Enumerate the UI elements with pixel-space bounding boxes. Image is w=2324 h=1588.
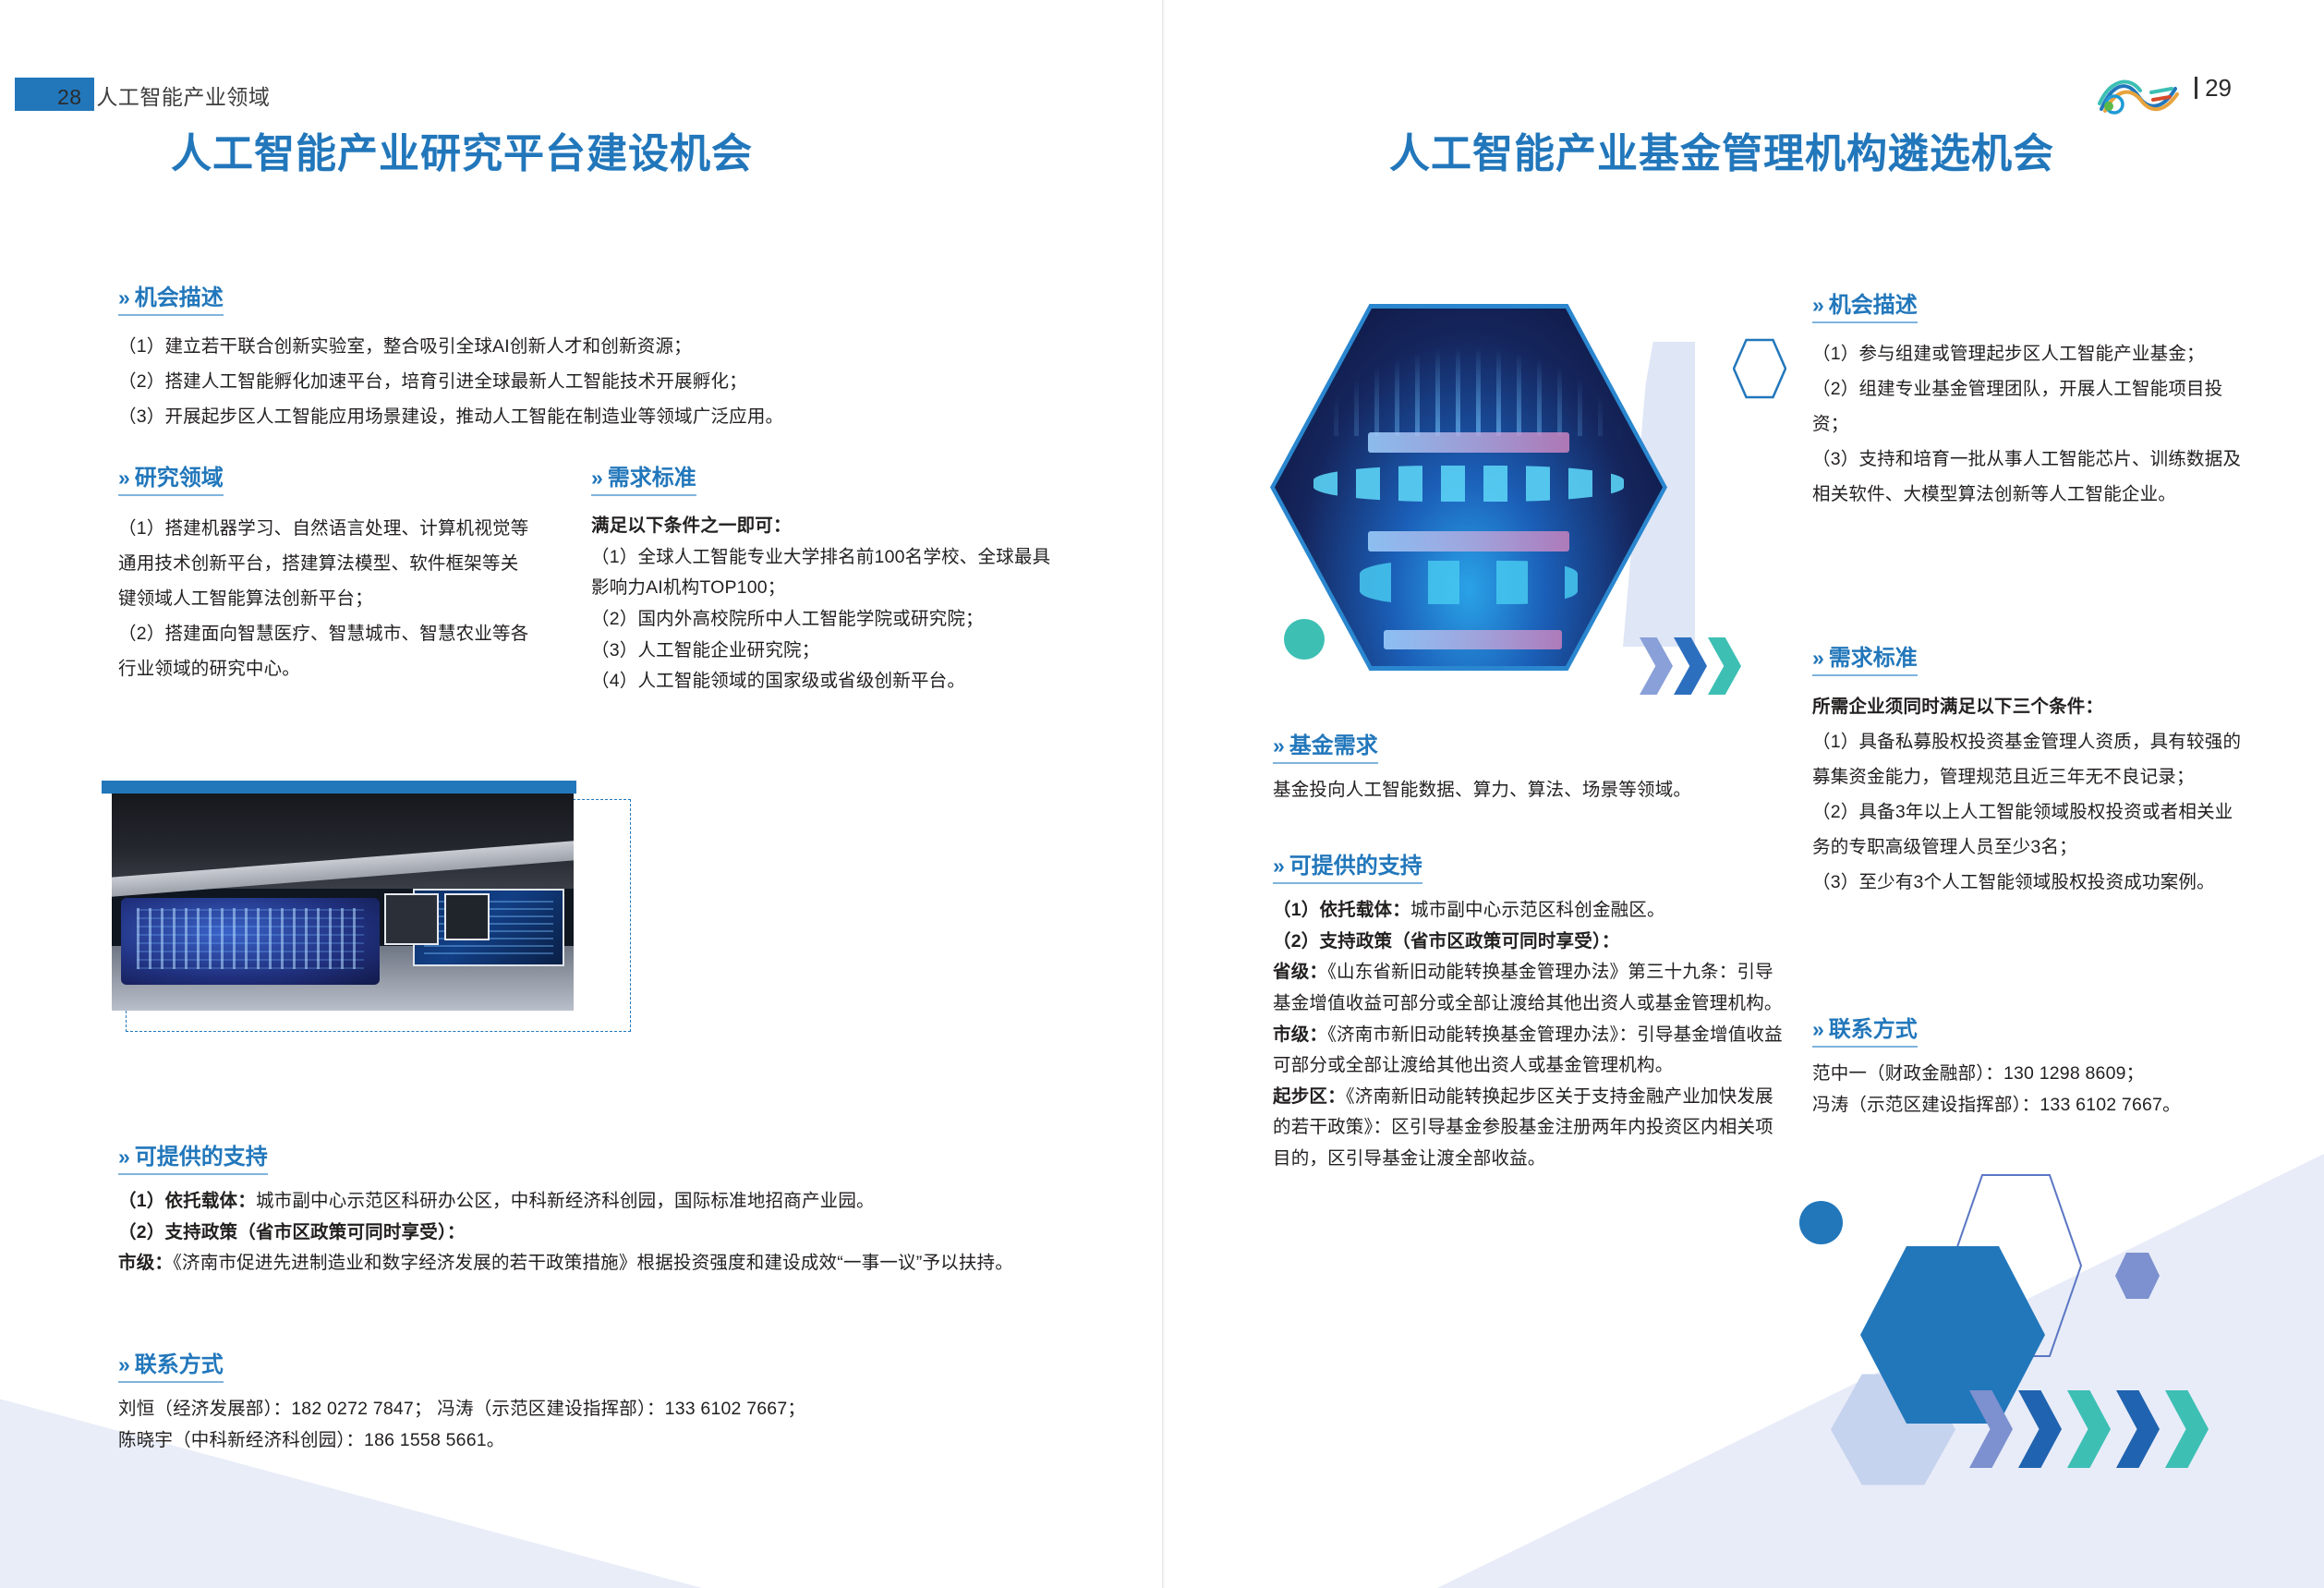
logo-icon — [2096, 74, 2181, 116]
page-left-title: 人工智能产业研究平台建设机会 — [171, 120, 753, 179]
brand-logo — [2096, 74, 2181, 116]
section-heading-contact: »联系方式 — [1812, 1018, 1918, 1048]
section-heading-label: 基金需求 — [1289, 733, 1378, 758]
folio-left-number: 28 — [57, 85, 82, 109]
fund-need-text: 基金投向人工智能数据、算力、算法、场景等领域。 — [1273, 775, 1790, 806]
section-opportunity-left: »机会描述 （1）建立若干联合创新实验室，整合吸引全球AI创新人才和创新资源； … — [118, 286, 1116, 434]
support-item-1-label: （1）依托载体： — [118, 1191, 256, 1211]
page-left: 人工智能产业研究平台建设机会 »机会描述 （1）建立若干联合创新实验室，整合吸引… — [0, 0, 1162, 1588]
hex-data-bars — [1313, 348, 1624, 436]
section-heading-requirement: »需求标准 — [1812, 647, 1918, 676]
hexagon-outline-icon — [1733, 338, 1786, 399]
arrow-chevron — [2067, 1390, 2111, 1468]
folio-right: 29 — [2195, 74, 2232, 103]
photo-image — [112, 794, 574, 1011]
section-heading-opportunity: »机会描述 — [118, 286, 224, 316]
list-item: （1）建立若干联合创新实验室，整合吸引全球AI创新人才和创新资源； — [118, 329, 1116, 364]
chevron-accent-group — [1640, 637, 1741, 695]
section-heading-label: 机会描述 — [135, 285, 224, 310]
support-item-1-label: （1）依托载体： — [1273, 900, 1410, 920]
section-heading-research-field: »研究领域 — [118, 467, 224, 496]
chevron-double-right-icon: » — [1812, 1017, 1822, 1041]
chevron-double-right-icon: » — [591, 466, 600, 490]
list-item: （1）全球人工智能专业大学排名前100名学校、全球最具影响力AI机构TOP100… — [591, 542, 1053, 604]
list-item: （1）具备私募股权投资基金管理人资质，具有较强的募集资金能力，管理规范且近三年无… — [1812, 724, 2246, 794]
support-city-policy: 市级：《济南市促进先进制造业和数字经济发展的若干政策措施》根据投资强度和建设成效… — [118, 1248, 1125, 1279]
support-startup-zone-label: 起步区： — [1273, 1086, 1346, 1107]
blue-circle-decoration — [1799, 1201, 1843, 1244]
section-heading-label: 研究领域 — [135, 466, 224, 491]
section-opportunity-right: »机会描述 （1）参与组建或管理起步区人工智能产业基金； （2）组建专业基金管理… — [1812, 294, 2246, 512]
section-heading-support: »可提供的支持 — [1273, 855, 1422, 884]
section-contact-right: »联系方式 范中一（财政金融部）：130 1298 8609； 冯涛（示范区建设… — [1812, 1018, 2246, 1121]
support-city-text: 《济南市新旧动能转换基金管理办法》：引导基金增值收益可部分或全部让渡给其他出资人… — [1273, 1024, 1783, 1076]
folio-left: 28›人工智能产业领域 — [57, 79, 270, 111]
section-heading-contact: »联系方式 — [118, 1353, 224, 1383]
list-item: （1）参与组建或管理起步区人工智能产业基金； — [1812, 336, 2246, 371]
list-item: （4）人工智能领域的国家级或省级创新平台。 — [591, 666, 1053, 697]
contact-line: 冯涛（示范区建设指挥部）：133 6102 7667。 — [1812, 1090, 2246, 1121]
section-support-left: »可提供的支持 （1）依托载体：城市副中心示范区科研办公区，中科新经济科创园，国… — [118, 1146, 1125, 1279]
chevron-double-right-icon: » — [1273, 854, 1282, 878]
photo-display-panel-a — [384, 893, 439, 945]
list-item: （3）支持和培育一批从事人工智能芯片、训练数据及相关软件、大模型算法创新等人工智… — [1812, 442, 2246, 512]
section-heading-label: 需求标准 — [608, 466, 696, 491]
list-item: （2）具备3年以上人工智能领域股权投资或者相关业务的专职高级管理人员至少3名； — [1812, 794, 2246, 865]
contact-line: 陈晓宇（中科新经济科创园）：186 1558 5661。 — [118, 1425, 1125, 1457]
list-item: （1）搭建机器学习、自然语言处理、计算机视觉等通用技术创新平台，搭建算法模型、软… — [118, 511, 534, 616]
arrow-chevron — [1969, 1390, 2013, 1468]
support-province-text: 《山东省新旧动能转换基金管理办法》第三十九条：引导基金增值收益可部分或全部让渡给… — [1273, 962, 1783, 1013]
support-item-1: （1）依托载体：城市副中心示范区科创金融区。 — [1273, 895, 1790, 927]
section-requirement-right: »需求标准 所需企业须同时满足以下三个条件： （1）具备私募股权投资基金管理人资… — [1812, 647, 2246, 900]
photo-display-panel-b — [444, 893, 490, 940]
hex-tag-top — [1368, 432, 1569, 453]
folio-separator-icon: › — [87, 90, 92, 105]
hex-tag-bottom — [1384, 630, 1562, 650]
support-city-label: 市级： — [118, 1253, 173, 1273]
chevron-double-right-icon: » — [118, 1145, 127, 1169]
hexagon-photo-body — [1275, 305, 1663, 670]
folio-left-label: 人工智能产业领域 — [96, 85, 270, 109]
list-item: （2）搭建面向智慧医疗、智慧城市、智慧农业等各行业领域的研究中心。 — [118, 616, 534, 686]
contact-line: 范中一（财政金融部）：130 1298 8609； — [1812, 1059, 2246, 1090]
section-heading-label: 联系方式 — [135, 1352, 224, 1377]
list-item: （3）人工智能企业研究院； — [591, 636, 1053, 667]
teal-circle-decoration — [1284, 619, 1325, 660]
folio-right-rule — [2195, 77, 2197, 99]
support-province-policy: 省级：《山东省新旧动能转换基金管理办法》第三十九条：引导基金增值收益可部分或全部… — [1273, 957, 1790, 1019]
section-heading-label: 需求标准 — [1829, 646, 1918, 671]
support-startup-zone-text: 《济南新旧动能转换起步区关于支持金融产业加快发展的若干政策》：区引导基金参股基金… — [1273, 1086, 1773, 1169]
list-item: （2）组建专业基金管理团队，开展人工智能项目投资； — [1812, 371, 2246, 442]
ai-system-hexagon-image — [1275, 305, 1663, 670]
requirement-intro: 所需企业须同时满足以下三个条件： — [1812, 689, 2246, 724]
chevron-double-right-icon: » — [118, 466, 127, 490]
chevron-accent — [1708, 637, 1741, 695]
folio-right-number: 29 — [2205, 74, 2232, 102]
support-item-1: （1）依托载体：城市副中心示范区科研办公区，中科新经济科创园，国际标准地招商产业… — [118, 1186, 1125, 1218]
support-item-2-label: （2）支持政策（省市区政策可同时享受）： — [1273, 927, 1790, 958]
support-province-label: 省级： — [1273, 962, 1327, 982]
section-heading-label: 可提供的支持 — [135, 1145, 268, 1170]
section-research-field: »研究领域 （1）搭建机器学习、自然语言处理、计算机视觉等通用技术创新平台，搭建… — [118, 467, 534, 686]
section-heading-requirement: »需求标准 — [591, 467, 696, 496]
section-heading-support: »可提供的支持 — [118, 1146, 268, 1175]
arrow-chevron — [2165, 1390, 2209, 1468]
hex-pod-row — [1360, 561, 1577, 604]
support-city-policy: 市级：《济南市新旧动能转换基金管理办法》：引导基金增值收益可部分或全部让渡给其他… — [1273, 1020, 1790, 1082]
chevron-accent — [1640, 637, 1673, 695]
hex-tag-middle — [1368, 531, 1569, 552]
support-startup-zone-policy: 起步区：《济南新旧动能转换起步区关于支持金融产业加快发展的若干政策》：区引导基金… — [1273, 1082, 1790, 1175]
support-city-label: 市级： — [1273, 1024, 1327, 1045]
list-item: （2）搭建人工智能孵化加速平台，培育引进全球最新人工智能技术开展孵化； — [118, 364, 1116, 399]
magazine-spread: 28›人工智能产业领域 29 人工智能产业研究平台建设机会 »机会描述 （1）建… — [0, 0, 2324, 1588]
chevron-double-right-icon: » — [118, 285, 127, 309]
section-requirement-left: »需求标准 满足以下条件之一即可： （1）全球人工智能专业大学排名前100名学校… — [591, 467, 1053, 697]
chevron-double-right-icon: » — [118, 1352, 127, 1376]
chevron-accent — [1674, 637, 1707, 695]
facility-photo — [102, 781, 605, 1021]
support-item-1-text: 城市副中心示范区科研办公区，中科新经济科创园，国际标准地招商产业园。 — [256, 1191, 875, 1211]
contact-line: 刘恒（经济发展部）：182 0272 7847； 冯涛（示范区建设指挥部）：13… — [118, 1394, 1125, 1425]
photo-top-accent-bar — [102, 781, 576, 794]
arrow-chevron — [2116, 1390, 2160, 1468]
list-item: （2）国内外高校院所中人工智能学院或研究院； — [591, 604, 1053, 636]
requirement-intro: 满足以下条件之一即可： — [591, 511, 1053, 542]
section-support-right: »可提供的支持 （1）依托载体：城市副中心示范区科创金融区。 （2）支持政策（省… — [1273, 855, 1790, 1174]
support-city-text: 《济南市促进先进制造业和数字经济发展的若干政策措施》根据投资强度和建设成效“一事… — [173, 1253, 1013, 1273]
support-item-2-label: （2）支持政策（省市区政策可同时享受）： — [118, 1218, 1125, 1249]
hex-cloud-row — [1313, 466, 1624, 503]
section-fund-need: »基金需求 基金投向人工智能数据、算力、算法、场景等领域。 — [1273, 734, 1790, 806]
list-item: （3）开展起步区人工智能应用场景建设，推动人工智能在制造业等领域广泛应用。 — [118, 399, 1116, 434]
chevron-double-right-icon: » — [1273, 733, 1282, 758]
section-heading-fund-need: »基金需求 — [1273, 734, 1378, 764]
list-item: （3）至少有3个人工智能领域股权投资成功案例。 — [1812, 865, 2246, 900]
arrow-sequence-decoration — [1969, 1390, 2209, 1468]
arrow-chevron — [2018, 1390, 2062, 1468]
section-heading-label: 可提供的支持 — [1289, 854, 1422, 879]
support-item-1-text: 城市副中心示范区科创金融区。 — [1410, 900, 1665, 920]
section-heading-label: 机会描述 — [1829, 293, 1918, 318]
chevron-double-right-icon: » — [1812, 646, 1822, 670]
chevron-double-right-icon: » — [1812, 293, 1822, 317]
section-contact-left: »联系方式 刘恒（经济发展部）：182 0272 7847； 冯涛（示范区建设指… — [118, 1353, 1125, 1456]
section-heading-label: 联系方式 — [1829, 1017, 1918, 1042]
section-heading-opportunity: »机会描述 — [1812, 294, 1918, 323]
photo-city-model — [121, 898, 380, 985]
